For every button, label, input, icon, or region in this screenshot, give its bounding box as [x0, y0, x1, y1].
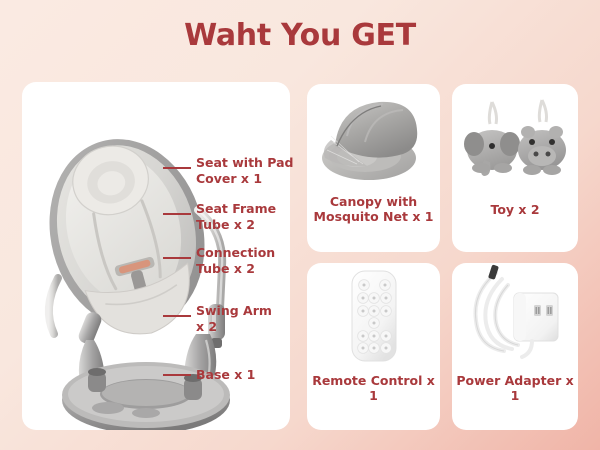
- infographic-page: Waht You GET: [0, 0, 600, 450]
- power-adapter-art: [452, 263, 578, 368]
- callout-base: Base x 1: [196, 367, 255, 383]
- remote-caption: Remote Control x 1: [307, 373, 440, 403]
- canopy-card: Canopy with Mosquito Net x 1: [307, 84, 440, 252]
- toy-caption: Toy x 2: [452, 202, 578, 217]
- remote-art: [307, 263, 440, 368]
- callout-seat-with-pad-cover: Seat with Pad Cover x 1: [196, 155, 294, 186]
- leader-line-swing-arm: [163, 315, 191, 317]
- toy-card: Toy x 2: [452, 84, 578, 252]
- power-adapter-illustration: [452, 263, 578, 368]
- callout-swing-arm: Swing Arm x 2: [196, 303, 272, 334]
- leader-line-seat-pad: [163, 167, 191, 169]
- plush-toys-illustration: [452, 84, 578, 189]
- page-title: Waht You GET: [0, 18, 600, 53]
- callout-seat-frame-tube: Seat Frame Tube x 2: [196, 201, 276, 232]
- power-adapter-caption: Power Adapter x 1: [452, 373, 578, 403]
- callout-connection-tube: Connection Tube x 2: [196, 245, 275, 276]
- leader-line-seat-frame: [163, 213, 191, 215]
- canopy-art: [307, 84, 440, 189]
- leader-line-connection-tube: [163, 257, 191, 259]
- leader-line-base: [163, 374, 191, 376]
- toy-art: [452, 84, 578, 189]
- power-adapter-card: Power Adapter x 1: [452, 263, 578, 430]
- canopy-caption: Canopy with Mosquito Net x 1: [307, 194, 440, 224]
- canopy-illustration: [307, 84, 440, 189]
- remote-control-illustration: [307, 263, 440, 368]
- remote-card: Remote Control x 1: [307, 263, 440, 430]
